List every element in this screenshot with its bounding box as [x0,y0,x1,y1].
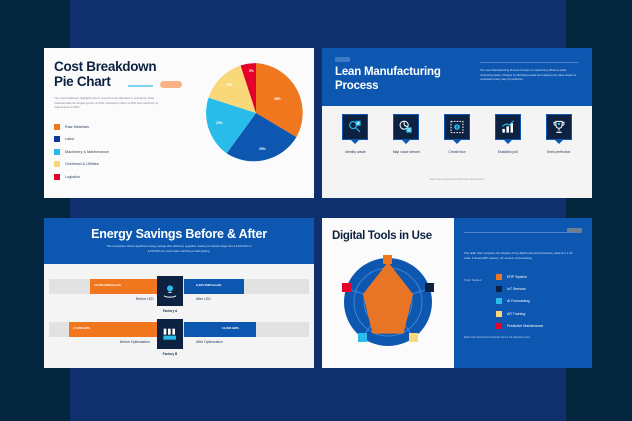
slide2-header: Lean Manufacturing Process The Lean Manu… [322,48,592,106]
title-rule [128,85,153,87]
process-step[interactable]: Identify waste [332,114,378,154]
slide2-title: Lean Manufacturing Process [335,66,475,93]
bar-caption-after: After Optimization [196,340,223,344]
legend-label: Raw Materials [65,125,89,129]
legend-item[interactable]: AR Training [496,311,588,317]
legend-item[interactable]: Predictive Maintenance [496,323,588,329]
legend-swatch-iot-sensors [496,286,502,292]
legend-swatch-machinery [54,149,60,155]
factory-name: Factory A [150,309,190,313]
radar-marker-iot[interactable] [425,283,434,292]
pie-value-label: 5% [249,69,254,73]
process-step[interactable]: Establish pull [485,114,531,154]
step-label: Identify waste [332,150,378,154]
bar-value-before: 17,800 kWh [73,326,90,330]
legend-swatch-ar-training [496,311,502,317]
slide2-paragraph: The Lean Manufacturing Process focuses o… [480,69,578,83]
slide-lean-manufacturing[interactable]: Lean Manufacturing Process The Lean Manu… [322,48,592,198]
slide2-title-line1: Lean Manufacturing [335,66,441,78]
bar-caption-before: Before Optimization [120,340,150,344]
header-divider [480,62,578,63]
slide2-title-line2: Process [335,80,378,92]
legend-item[interactable]: ERP System [496,274,588,280]
pie-map-icon [393,114,419,140]
radar-marker-predictive[interactable] [342,283,351,292]
slide4-title: Digital Tools in Use [332,230,452,242]
slide1-title-line2: Pie Chart [54,74,111,89]
legend-label: Logistics [65,175,80,179]
legend-item[interactable]: Machinery & Maintenance [54,149,184,155]
legend-item[interactable]: Overhead & Utilities [54,161,184,167]
radar-legend: ERP System IoT Sensors AI Forecasting AR… [496,274,588,335]
legend-swatch-labor [54,136,60,142]
legend-label: Overhead & Utilities [65,162,99,166]
legend-item[interactable]: AI Forecasting [496,298,588,304]
process-step[interactable]: Map value stream [383,114,429,154]
legend-label: ERP System [507,275,527,279]
legend-item[interactable]: Labor [54,136,184,142]
growth-chart-icon [495,114,521,140]
step-label: Create flow [434,150,480,154]
legend-swatch-ai-forecasting [496,298,502,304]
legend-item[interactable]: Raw Materials [54,124,184,130]
slide4-chart-panel: Digital Tools in Use [322,218,454,368]
radar-chart-svg [334,252,442,352]
slide3-subtitle: This comparison shows significant energy… [104,245,254,254]
radar-marker-ai[interactable] [358,333,367,342]
slide-digital-tools[interactable]: Digital Tools in Use [322,218,592,368]
legend-swatch-raw-materials [54,124,60,130]
slide1-title-line1: Cost Breakdown [54,59,156,74]
flow-board-icon [444,114,470,140]
legend-label: AI Forecasting [507,299,530,303]
slide1-canvas: Cost Breakdown Pie Chart The cost breakd… [44,48,314,198]
legend-label: IoT Sensors [507,287,526,291]
bar-caption-before: Before LED [136,297,154,301]
pie-legend: Raw Materials Labor Machinery & Maintena… [54,124,184,186]
step-label: Map value stream [383,150,429,154]
slide1-body-text: The cost breakdown highlights where reso… [54,96,162,110]
bar-caption-after: After LED [196,297,211,301]
process-steps: Identify waste Map value stream [330,114,584,154]
accent-pill [160,81,182,88]
legend-swatch-erp-system [496,274,502,280]
legend-title: Tools Tracked [464,278,481,282]
slide-deck: Cost Breakdown Pie Chart The cost breakd… [0,0,632,421]
legend-swatch-overhead [54,161,60,167]
slide2-footnote: Each step represented with icons and arr… [322,178,592,181]
bar-after-factory-b[interactable] [184,322,256,337]
legend-item[interactable]: IoT Sensors [496,286,588,292]
slide4-footnote: Each tool rated across factories from 1-… [464,336,584,339]
header-tag-badge [335,57,350,62]
radar-marker-ar[interactable] [409,333,418,342]
slide4-paragraph: This radar chart compares the adoption o… [464,252,576,261]
factory-building-icon [157,319,183,349]
lightbulb-hand-icon [157,276,183,306]
bar-value-before: 14,200 kWh/month [94,283,121,287]
legend-swatch-predictive-maintenance [496,323,502,329]
pie-chart: 35% 25% 20% 15% 5% [204,61,308,165]
process-step[interactable]: Create flow [434,114,480,154]
radar-chart [334,252,442,352]
step-label: Establish pull [485,150,531,154]
pie-value-label: 15% [226,83,233,87]
bar-value-after: 9,100 kWh/month [196,283,221,287]
radar-marker-erp[interactable] [383,255,392,264]
panel-divider [464,232,576,233]
pie-value-label: 25% [259,147,266,151]
slide4-info-panel: This radar chart compares the adoption o… [454,218,592,368]
pie-value-label: 35% [274,97,281,101]
process-step[interactable]: Seek perfection [536,114,582,154]
pie-chart-svg [204,61,308,165]
slide3-header [44,218,314,264]
magnifier-checklist-icon [342,114,368,140]
legend-label: Predictive Maintenance [507,324,543,328]
legend-label: Labor [65,137,75,141]
step-label: Seek perfection [536,150,582,154]
legend-swatch-logistics [54,174,60,180]
legend-label: AR Training [507,312,525,316]
legend-label: Machinery & Maintenance [65,150,109,154]
trophy-shield-icon [546,114,572,140]
slide3-title: Energy Savings Before & After [44,227,314,241]
slide-energy-savings[interactable]: Energy Savings Before & After This compa… [44,218,314,368]
factory-name: Factory B [150,352,190,356]
bar-value-after: 11,800 kWh [222,326,239,330]
pie-value-label: 20% [216,121,223,125]
legend-item[interactable]: Logistics [54,174,184,180]
slide-cost-breakdown[interactable]: Cost Breakdown Pie Chart The cost breakd… [44,48,314,198]
